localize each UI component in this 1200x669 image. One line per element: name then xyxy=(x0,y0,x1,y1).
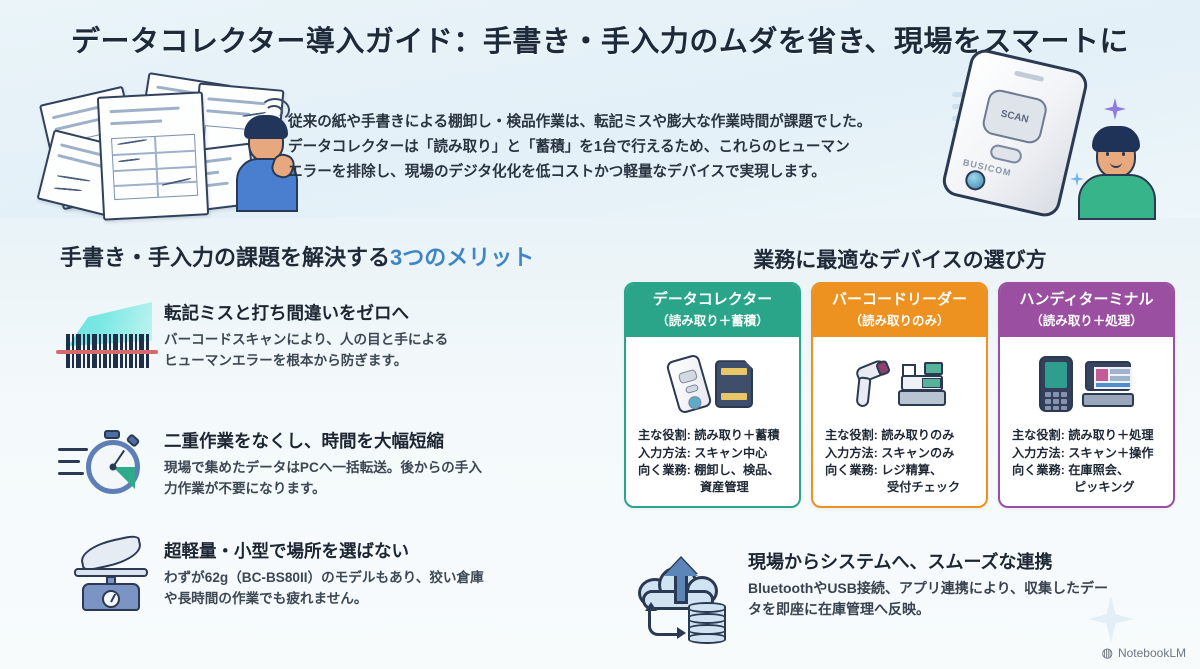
cloud-integration-block: 現場からシステムへ、スムーズな連携 BluetoothやUSB接続、アプリ連携に… xyxy=(636,548,1181,620)
spec-value: 読み取り＋処理 xyxy=(1068,428,1153,442)
left-heading-main: 手書き・手入力の課題を解決する xyxy=(60,245,390,270)
card-subtitle: （読み取り＋処理） xyxy=(1004,310,1169,329)
spec-label: 主な役割: xyxy=(1012,428,1065,442)
spec-value: スキャン＋操作 xyxy=(1068,446,1153,460)
merit-desc-line: バーコードスキャンにより、人の目と手による xyxy=(164,330,612,351)
data-collector-device-icon xyxy=(672,357,706,411)
merit-desc-line: 現場で集めたデータはPCへ一括転送。後からの手入 xyxy=(164,458,612,479)
left-section-heading: 手書き・手入力の課題を解決する3つのメリット xyxy=(60,240,534,272)
sparkle-icon xyxy=(1104,98,1126,120)
spec-value: レジ精算、 xyxy=(881,463,942,477)
left-heading-accent: 3つのメリット xyxy=(390,245,534,270)
spec-value-continued: 受付チェック xyxy=(825,479,980,496)
feather-scale-icon xyxy=(52,540,156,612)
merit-title: 二重作業をなくし、時間を大幅短縮 xyxy=(164,428,612,453)
card-title: ハンディターミナル xyxy=(1004,291,1169,308)
card-header: バーコードリーダー （読み取りのみ） xyxy=(813,284,986,337)
hero-intro-line-1: 従来の紙や手書きによる棚卸し・検品作業は、転記ミスや膨大な作業時間が課題でした。 xyxy=(288,110,936,135)
spec-label: 入力方法: xyxy=(825,446,878,460)
cloud-desc-line: BluetoothやUSB接続、アプリ連携により、収集したデー xyxy=(748,578,1181,599)
handy-terminal-icon xyxy=(1039,356,1073,412)
spec-value: 読み取りのみ xyxy=(881,428,954,442)
merit-title: 超軽量・小型で場所を選ばない xyxy=(164,538,612,563)
card-device-images xyxy=(632,345,793,423)
spec-label: 入力方法: xyxy=(1012,446,1065,460)
spec-value-continued: ピッキング xyxy=(1012,479,1167,496)
card-header: データコレクター （読み取り＋蓄積） xyxy=(626,284,799,337)
card-title: バーコードリーダー xyxy=(817,291,982,308)
desktop-computer-icon xyxy=(1082,361,1134,407)
merit-description: わずが62g（BC-BS80II）のモデルもあり、狡い倉庫 や長時間の作業でも疲… xyxy=(164,568,612,609)
card-specs: 主な役割: 読み取りのみ 入力方法: スキャンのみ 向く業務: レジ精算、 受付… xyxy=(819,427,980,496)
card-subtitle: （読み取り＋蓄積） xyxy=(630,310,795,329)
spec-label: 向く業務: xyxy=(1012,463,1065,477)
merit-description: バーコードスキャンにより、人の目と手による ヒューマンエラーを根本から防ぎます。 xyxy=(164,330,612,371)
merit-desc-line: や長時間の作業でも疲れません。 xyxy=(164,589,612,610)
cloud-database-sync-icon xyxy=(636,552,732,642)
barcode-scanner-gun-icon xyxy=(853,359,889,409)
infographic-page: データコレクター導入ガイド：手書き・手入力のムダを省き、現場をスマートに xyxy=(0,0,1200,669)
spec-value: 読み取り＋蓄積 xyxy=(694,428,779,442)
card-header: ハンディターミナル （読み取り＋処理） xyxy=(1000,284,1173,337)
spec-value-continued: 資産管理 xyxy=(638,479,793,496)
cash-register-icon xyxy=(898,362,946,406)
spec-label: 向く業務: xyxy=(825,463,878,477)
notebooklm-watermark: ◍ NotebookLM xyxy=(1102,645,1186,661)
card-device-images xyxy=(1006,345,1167,423)
data-collector-device-illustration: SCAN BUSICOM xyxy=(940,46,1091,219)
card-specs: 主な役割: 読み取り＋蓄積 入力方法: スキャン中心 向く業務: 棚卸し、検品、… xyxy=(632,427,793,496)
cloud-desc-line: タを即座に在庫管理へ反映。 xyxy=(748,599,1181,620)
spec-value: 在庫照会、 xyxy=(1068,463,1129,477)
spec-value: 棚卸し、検品、 xyxy=(694,463,779,477)
spec-value: スキャンのみ xyxy=(881,446,954,460)
merit-item: 転記ミスと打ち間違いをゼロへ バーコードスキャンにより、人の目と手による ヒュー… xyxy=(52,300,612,371)
cloud-block-description: BluetoothやUSB接続、アプリ連携により、収集したデー タを即座に在庫管… xyxy=(748,578,1181,620)
merit-desc-line: わずが62g（BC-BS80II）のモデルもあり、狡い倉庫 xyxy=(164,568,612,589)
happy-worker-illustration xyxy=(1076,118,1160,218)
merit-item: 二重作業をなくし、時間を大幅短縮 現場で集めたデータはPCへ一括転送。後からの手… xyxy=(52,428,612,499)
stopwatch-icon xyxy=(52,430,156,502)
notebooklm-label: NotebookLM xyxy=(1118,646,1186,660)
device-comparison-cards: データコレクター （読み取り＋蓄積） 主な役割: 読み取り＋蓄積 入力方法: ス… xyxy=(624,282,1176,508)
device-card-data-collector[interactable]: データコレクター （読み取り＋蓄積） 主な役割: 読み取り＋蓄積 入力方法: ス… xyxy=(624,282,801,508)
spec-label: 主な役割: xyxy=(825,428,878,442)
hero-intro-line-3: エラーを排除し、現場のデジタ化化を低コストかつ軽量なデバイスで実現します。 xyxy=(288,160,936,185)
card-specs: 主な役割: 読み取り＋処理 入力方法: スキャン＋操作 向く業務: 在庫照会、 … xyxy=(1006,427,1167,496)
merit-title: 転記ミスと打ち間違いをゼロへ xyxy=(164,300,612,325)
card-subtitle: （読み取りのみ） xyxy=(817,310,982,329)
merit-description: 現場で集めたデータはPCへ一括転送。後からの手入 力作業が不要になります。 xyxy=(164,458,612,499)
page-title: データコレクター導入ガイド：手書き・手入力のムダを省き、現場をスマートに xyxy=(0,18,1200,60)
barcode-scan-icon xyxy=(52,302,156,374)
sd-card-icon xyxy=(715,360,753,408)
hero-intro-line-2: データコレクターは「読み取り」と「蓄積」を1台で行えるため、これらのヒューマン xyxy=(288,135,936,160)
card-title: データコレクター xyxy=(630,291,795,308)
spec-label: 向く業務: xyxy=(638,463,691,477)
device-card-handy-terminal[interactable]: ハンディターミナル （読み取り＋処理） xyxy=(998,282,1175,508)
hero-intro-paragraph: 従来の紙や手書きによる棚卸し・検品作業は、転記ミスや膨大な作業時間が課題でした。… xyxy=(288,110,936,185)
cloud-block-title: 現場からシステムへ、スムーズな連携 xyxy=(748,548,1181,574)
merit-desc-line: 力作業が不要になります。 xyxy=(164,479,612,500)
card-device-images xyxy=(819,345,980,423)
notebooklm-logo-icon: ◍ xyxy=(1102,645,1113,661)
spec-value: スキャン中心 xyxy=(694,446,767,460)
hero-section: データコレクター導入ガイド：手書き・手入力のムダを省き、現場をスマートに xyxy=(0,0,1200,218)
right-section-heading: 業務に最適なデバイスの選び方 xyxy=(620,244,1180,274)
spec-label: 入力方法: xyxy=(638,446,691,460)
spec-label: 主な役割: xyxy=(638,428,691,442)
merit-desc-line: ヒューマンエラーを根本から防ぎます。 xyxy=(164,351,612,372)
merit-item: 超軽量・小型で場所を選ばない わずが62g（BC-BS80II）のモデルもあり、… xyxy=(52,538,612,609)
device-card-barcode-reader[interactable]: バーコードリーダー （読み取りのみ） 主な役割: 読み取りのみ 入力方法: スキ… xyxy=(811,282,988,508)
